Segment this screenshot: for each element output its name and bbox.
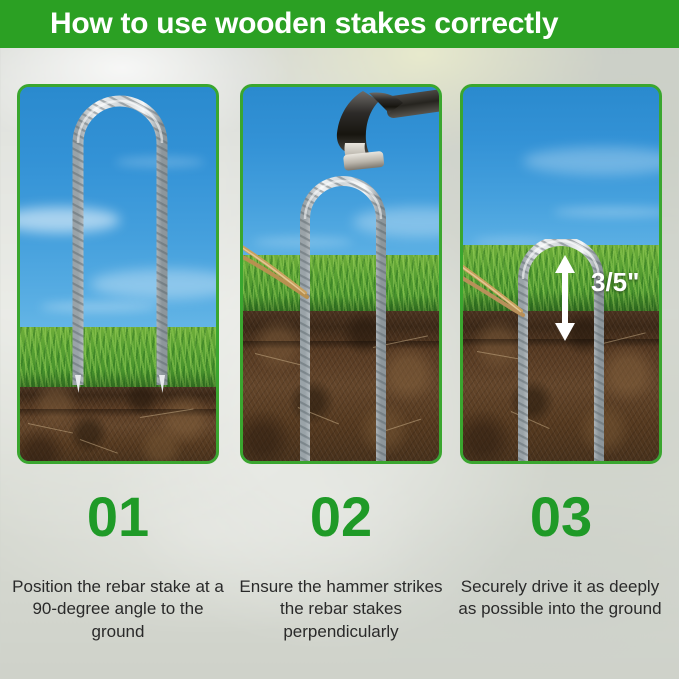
step-caption-3: Securely drive it as deeply as possible … <box>452 576 668 621</box>
header-banner: How to use wooden stakes correctly <box>0 0 679 48</box>
cloud-shape <box>523 147 662 175</box>
scene-step-2 <box>243 87 439 461</box>
rebar-stake-icon <box>64 95 176 395</box>
step-caption-2: Ensure the hammer strikes the rebar stak… <box>233 576 449 643</box>
cloud-wisp <box>553 207 662 217</box>
measurement-arrow-icon <box>553 255 577 341</box>
step-panel-2 <box>240 84 442 464</box>
step-caption-1: Position the rebar stake at a 90-degree … <box>10 576 226 643</box>
steps-panel-row: 3/5" <box>0 84 679 464</box>
step-panel-1 <box>17 84 219 464</box>
scene-step-3: 3/5" <box>463 87 659 461</box>
step-number-1: 01 <box>17 489 219 545</box>
root-strand <box>80 439 118 454</box>
root-strand <box>28 423 73 434</box>
measurement-label: 3/5" <box>591 267 639 298</box>
rope-strands-icon <box>240 217 349 327</box>
step-number-2: 02 <box>240 489 442 545</box>
page-title: How to use wooden stakes correctly <box>50 9 558 39</box>
hammer-icon <box>323 84 442 191</box>
scene-step-1 <box>20 87 216 461</box>
rope-strands-icon <box>460 245 567 345</box>
soil-layer <box>20 387 216 464</box>
step-number-3: 03 <box>460 489 662 545</box>
step-panel-3: 3/5" <box>460 84 662 464</box>
